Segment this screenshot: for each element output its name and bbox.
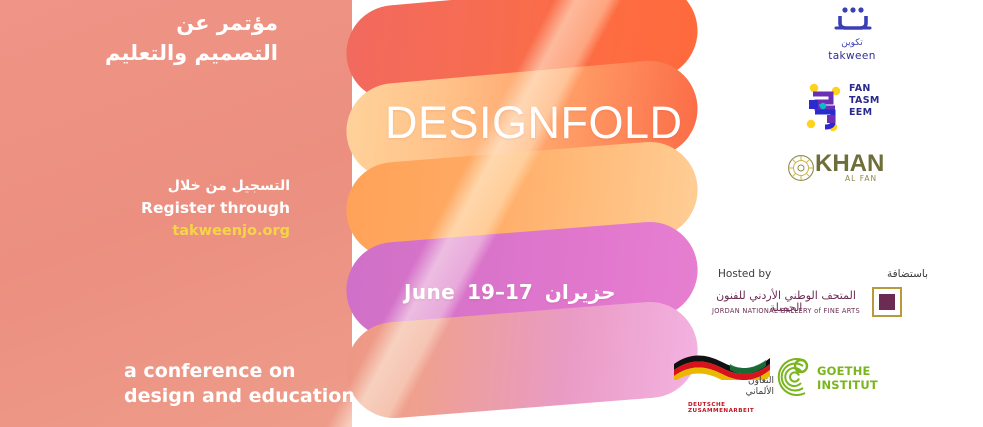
fantasmeem-line1: FAN	[849, 83, 880, 95]
date-range: 17–19	[467, 280, 533, 304]
takween-arabic-label: تكوين	[807, 39, 897, 49]
goethe-arcs-icon	[765, 355, 813, 399]
event-dates: حزيران17–19June	[404, 280, 616, 304]
fantasmeem-line3: EEM	[849, 107, 880, 119]
logo-german-cooperation: التعاون الألماني DEUTSCHE ZUSAMMENARBEIT	[668, 350, 778, 412]
hosted-by-arabic: باستضافة	[887, 268, 928, 280]
headline-arabic-line2: التصميم والتعليم	[0, 38, 278, 68]
german-cooperation-german-label: DEUTSCHE ZUSAMMENARBEIT	[688, 402, 778, 414]
hosted-by-labels: Hosted by باستضافة	[718, 268, 928, 280]
takween-latin-label: takween	[807, 50, 897, 62]
takween-glyph-icon	[830, 6, 874, 32]
jngfa-name: JORDAN NATIONAL GALLERY of FINE ARTS	[705, 307, 867, 315]
khan-ornament-icon	[787, 154, 815, 182]
registration-block: التسجيل من خلال Register through takween…	[0, 176, 290, 243]
headline-arabic: مؤتمر عن التصميم والتعليم	[0, 8, 278, 69]
headline-arabic-line1: مؤتمر عن	[0, 8, 278, 38]
tagline-line2: design and education	[124, 384, 355, 409]
fantasmeem-glyph-icon	[805, 82, 847, 132]
logo-khan-al-fan: KHAN AL FAN	[787, 152, 907, 192]
tagline-line1: a conference on	[124, 359, 355, 384]
register-url-link[interactable]: takweenjo.org	[0, 220, 290, 243]
goethe-line1: GOETHE	[817, 364, 878, 378]
page-title: DESIGNFOLD	[385, 97, 683, 149]
logo-takween: تكوين takween	[807, 6, 897, 62]
jngfa-emblem-icon	[872, 287, 902, 317]
fantasmeem-line2: TASM	[849, 95, 880, 107]
logo-column: تكوين takween FAN TASM EEM	[660, 0, 983, 427]
register-label-english: Register through	[0, 197, 290, 220]
logo-fantasmeem: FAN TASM EEM	[805, 80, 905, 136]
goethe-wordmark: GOETHE INSTITUT	[817, 364, 878, 392]
fantasmeem-wordmark: FAN TASM EEM	[849, 83, 880, 119]
register-label-arabic: التسجيل من خلال	[0, 176, 290, 197]
goethe-line2: INSTITUT	[817, 378, 878, 392]
logo-goethe-institut: GOETHE INSTITUT	[765, 355, 885, 401]
date-arabic-month: حزيران	[545, 280, 616, 304]
hosted-by-english: Hosted by	[718, 268, 771, 280]
date-english-month: June	[404, 280, 455, 304]
poster-canvas: مؤتمر عن التصميم والتعليم DESIGNFOLD الت…	[0, 0, 983, 427]
khan-subtitle: AL FAN	[845, 174, 877, 183]
tagline: a conference on design and education	[124, 359, 355, 410]
logo-jordan-national-gallery: المتحف الوطني الأردني للفنون الجميلة JOR…	[705, 290, 925, 326]
